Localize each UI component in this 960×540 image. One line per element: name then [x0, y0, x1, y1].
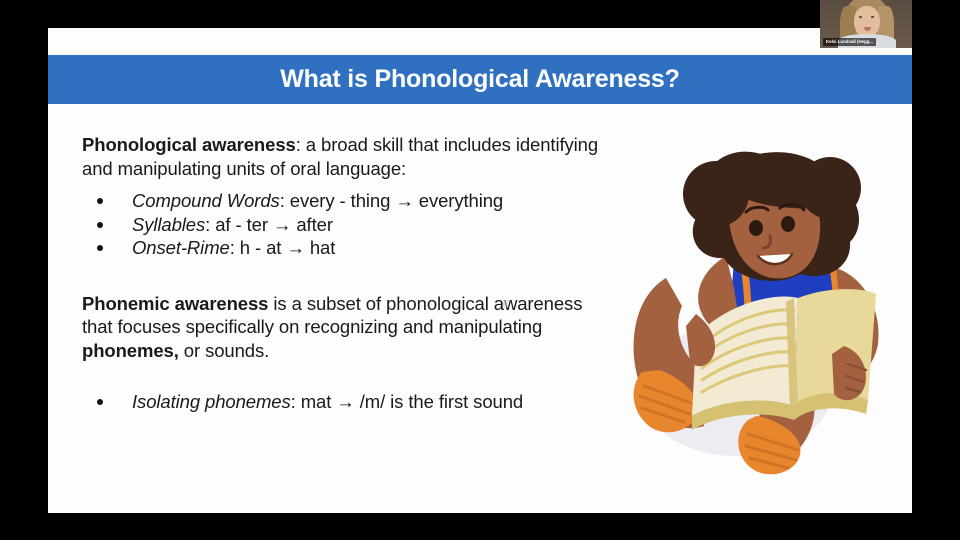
webcam-eye-left	[859, 16, 862, 18]
bullet-list-phonemic: Isolating phonemes: mat → /m/ is the fir…	[82, 390, 602, 414]
screen-root: What is Phonological Awareness? Phonolog…	[0, 0, 960, 540]
slide-title: What is Phonological Awareness?	[280, 65, 679, 94]
cursor-artifact	[503, 300, 508, 307]
paragraph-2-lead: Phonemic awareness	[82, 293, 268, 314]
list-item: Syllables: af - ter → after	[82, 213, 602, 237]
bullet-rest: : h - at → hat	[230, 237, 336, 258]
bullet-dot-icon	[97, 399, 103, 405]
list-item: Isolating phonemes: mat → /m/ is the fir…	[82, 390, 602, 414]
paragraph-phonemic-awareness: Phonemic awareness is a subset of phonol…	[82, 292, 602, 363]
bullet-dot-icon	[97, 222, 103, 228]
bullet-term: Syllables	[132, 214, 205, 235]
bullet-term: Compound Words	[132, 190, 280, 211]
slide-title-band: What is Phonological Awareness?	[48, 55, 912, 104]
bullet-rest: : every - thing → everything	[280, 190, 503, 211]
webcam-participant-tile[interactable]: Kelsi Lundvall (Hegg...	[820, 0, 912, 48]
list-item: Onset-Rime: h - at → hat	[82, 236, 602, 260]
bullet-list-phonological: Compound Words: every - thing → everythi…	[82, 189, 602, 260]
presentation-slide: What is Phonological Awareness? Phonolog…	[48, 28, 912, 513]
list-item: Compound Words: every - thing → everythi…	[82, 189, 602, 213]
paragraph-phonological-awareness: Phonological awareness: a broad skill th…	[82, 133, 602, 180]
child-reading-book-illustration	[608, 138, 908, 483]
paragraph-2-bold-phonemes: phonemes,	[82, 340, 179, 361]
bullet-dot-icon	[97, 198, 103, 204]
bullet-rest: : af - ter → after	[205, 214, 333, 235]
webcam-participant-name: Kelsi Lundvall (Hegg...	[823, 38, 876, 46]
paragraph-1-lead: Phonological awareness	[82, 134, 296, 155]
slide-body-column: Phonological awareness: a broad skill th…	[82, 133, 602, 414]
bullet-term: Isolating phonemes	[132, 391, 291, 412]
webcam-eye-right	[871, 16, 874, 18]
bullet-dot-icon	[97, 245, 103, 251]
bullet-term: Onset-Rime	[132, 237, 230, 258]
paragraph-2-tail: or sounds.	[179, 340, 269, 361]
bullet-rest: : mat → /m/ is the first sound	[291, 391, 523, 412]
